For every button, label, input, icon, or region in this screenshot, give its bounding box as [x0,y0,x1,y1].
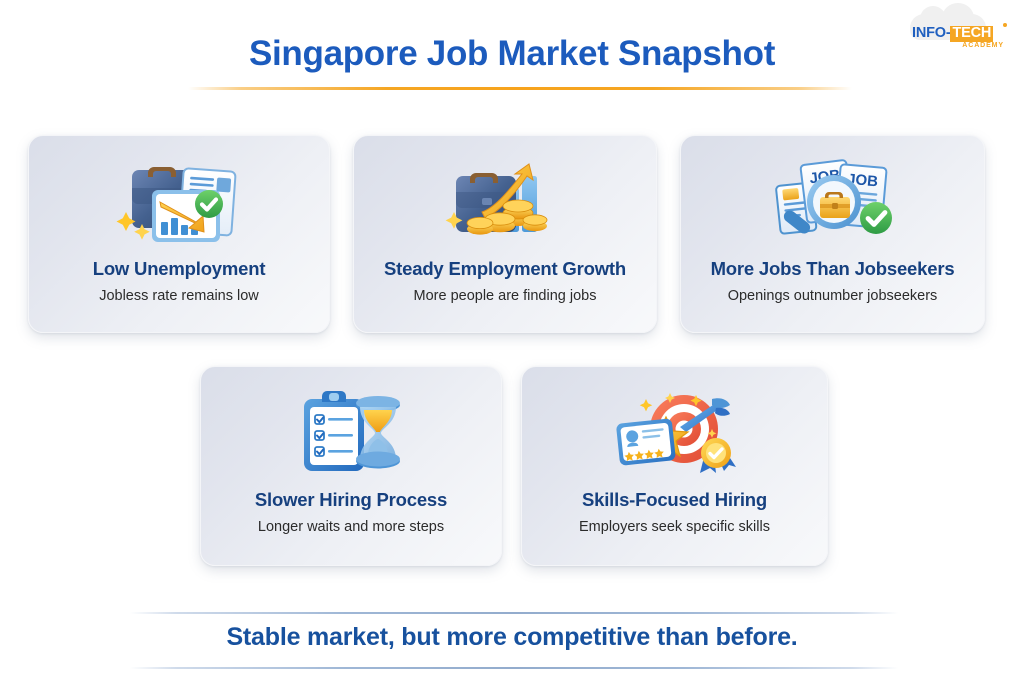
insight-card-skills-focused-hiring: Skills-Focused Hiring Employers seek spe… [521,366,828,566]
insight-card-low-unemployment: Low Unemployment Jobless rate remains lo… [28,135,330,333]
card-title: Slower Hiring Process [255,489,447,511]
card-subtitle: Openings outnumber jobseekers [728,288,938,304]
footer-divider-bottom [130,667,898,669]
card-subtitle: Jobless rate remains low [99,288,259,304]
insight-card-more-jobs-than-jobseekers: JOB JOB [680,135,985,333]
footer-summary-text: Stable market, but more competitive than… [0,623,1024,652]
footer-divider-top [130,612,898,614]
card-title: Skills-Focused Hiring [582,489,767,511]
card-title: More Jobs Than Jobseekers [711,258,955,280]
clipboard-checklist-hourglass-icon [276,381,426,477]
title-underline-rule [188,87,852,90]
target-dart-star-profile-card-medal-icon [600,381,750,477]
insight-card-slower-hiring-process: Slower Hiring Process Longer waits and m… [200,366,502,566]
page-title: Singapore Job Market Snapshot [0,34,1024,74]
job-listings-magnifier-briefcase-check-icon: JOB JOB [758,150,908,246]
card-subtitle: Longer waits and more steps [258,519,444,535]
registered-mark-dot-icon [1003,23,1007,27]
card-subtitle: Employers seek specific skills [579,519,770,535]
card-subtitle: More people are finding jobs [414,288,597,304]
card-title: Low Unemployment [93,258,266,280]
briefcase-document-declining-chart-check-icon [104,150,254,246]
briefcase-growth-bars-coins-icon [430,150,580,246]
insight-card-steady-employment-growth: Steady Employment Growth More people are… [353,135,657,333]
card-title: Steady Employment Growth [384,258,626,280]
